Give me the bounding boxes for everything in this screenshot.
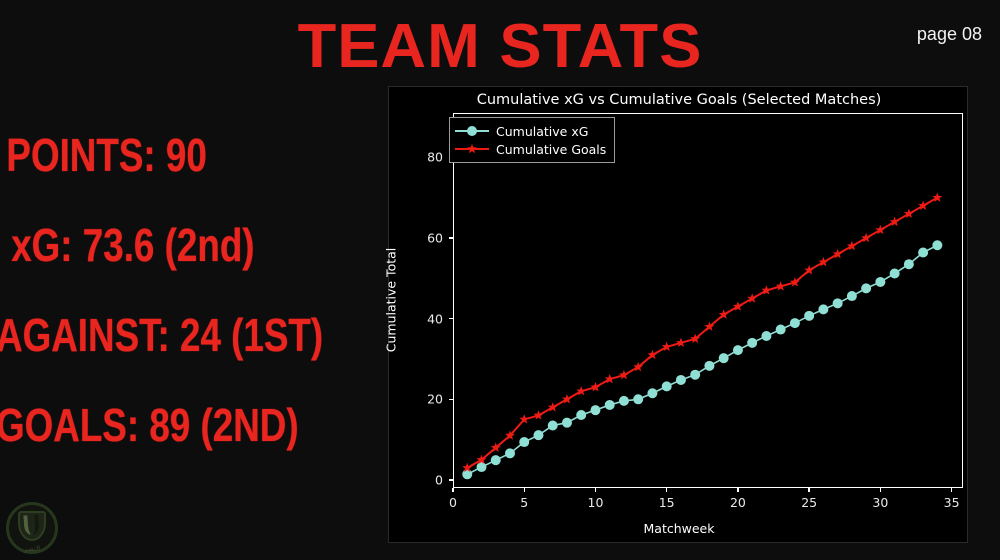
x-tick-mark <box>666 488 667 492</box>
data-point <box>519 437 529 447</box>
y-tick-mark <box>449 318 453 319</box>
data-point <box>704 361 714 371</box>
chart-figure: Cumulative xG vs Cumulative Goals (Selec… <box>388 86 968 543</box>
data-point <box>733 345 743 355</box>
data-point <box>619 370 629 379</box>
x-tick-label: 35 <box>932 495 972 510</box>
crest-wordmark: النصر <box>6 545 58 553</box>
data-point <box>776 325 786 335</box>
data-point <box>591 382 601 391</box>
data-point <box>619 396 629 406</box>
data-point <box>462 469 472 479</box>
data-point <box>790 318 800 328</box>
x-tick-mark <box>737 488 738 492</box>
data-point <box>676 338 686 347</box>
data-point <box>761 331 771 341</box>
legend-item-xg[interactable]: Cumulative xG <box>455 122 606 140</box>
x-tick-mark <box>524 488 525 492</box>
y-tick-mark <box>449 237 453 238</box>
data-point <box>847 291 857 301</box>
stat-against: AGAINST: 24 (1ST) <box>0 312 303 358</box>
x-tick-label: 25 <box>789 495 829 510</box>
y-tick-label: 80 <box>427 150 443 165</box>
data-point <box>605 400 615 410</box>
x-tick-mark <box>951 488 952 492</box>
data-point <box>747 338 757 348</box>
data-point <box>776 281 786 290</box>
data-point <box>590 405 600 415</box>
x-tick-label: 15 <box>647 495 687 510</box>
data-point <box>534 410 544 419</box>
x-tick-mark <box>452 488 453 492</box>
slide-canvas: TEAM STATS page 08 POINTS: 90 xG: 73.6 (… <box>0 0 1000 560</box>
stat-points: POINTS: 90 <box>0 132 304 178</box>
team-stats-list: POINTS: 90 xG: 73.6 (2nd) AGAINST: 24 (1… <box>0 132 380 492</box>
y-tick-label: 40 <box>427 311 443 326</box>
data-point <box>833 298 843 308</box>
y-tick-label: 20 <box>427 392 443 407</box>
x-tick-mark <box>880 488 881 492</box>
data-point <box>562 418 572 428</box>
data-point <box>932 240 942 250</box>
x-axis-label: Matchweek <box>389 521 969 536</box>
series-svg <box>453 113 963 488</box>
legend-label-goals: Cumulative Goals <box>496 142 606 157</box>
y-tick-mark <box>449 479 453 480</box>
legend-item-goals[interactable]: Cumulative Goals <box>455 140 606 158</box>
x-tick-mark <box>808 488 809 492</box>
y-tick-mark <box>449 399 453 400</box>
x-tick-label: 30 <box>860 495 900 510</box>
chart-title: Cumulative xG vs Cumulative Goals (Selec… <box>389 92 969 108</box>
data-point <box>647 388 657 398</box>
y-axis-label: Cumulative Total <box>384 248 399 353</box>
data-point <box>918 248 928 258</box>
x-tick-mark <box>595 488 596 492</box>
data-point <box>875 277 885 287</box>
legend-swatch-circle-icon <box>455 124 489 138</box>
page-title: TEAM STATS <box>0 14 1000 80</box>
data-point <box>548 421 558 431</box>
club-crest-logo: النصر <box>6 502 58 554</box>
data-point <box>861 283 871 293</box>
stat-goals: GOALS: 89 (2ND) <box>0 402 303 448</box>
data-point <box>633 394 643 404</box>
x-tick-label: 5 <box>504 495 544 510</box>
x-tick-label: 10 <box>575 495 615 510</box>
plot-area <box>453 113 963 488</box>
data-point <box>804 311 814 321</box>
page-number: page 08 <box>917 24 982 45</box>
data-point <box>662 381 672 391</box>
data-point <box>904 259 914 269</box>
data-point <box>476 462 486 472</box>
y-tick-label: 0 <box>435 472 443 487</box>
legend-swatch-star-icon <box>455 142 489 156</box>
data-point <box>676 375 686 385</box>
data-point <box>890 268 900 278</box>
x-tick-label: 20 <box>718 495 758 510</box>
stat-xg: xG: 73.6 (2nd) <box>0 222 304 268</box>
data-point <box>719 353 729 363</box>
data-point <box>533 430 543 440</box>
chart-legend[interactable]: Cumulative xG Cumulative Goals <box>449 117 615 163</box>
data-point <box>818 304 828 314</box>
legend-label-xg: Cumulative xG <box>496 124 588 139</box>
data-point <box>505 448 515 458</box>
data-point <box>576 410 586 420</box>
y-tick-label: 60 <box>427 231 443 246</box>
data-point <box>491 455 501 465</box>
x-tick-label: 0 <box>433 495 473 510</box>
data-point <box>690 370 700 380</box>
